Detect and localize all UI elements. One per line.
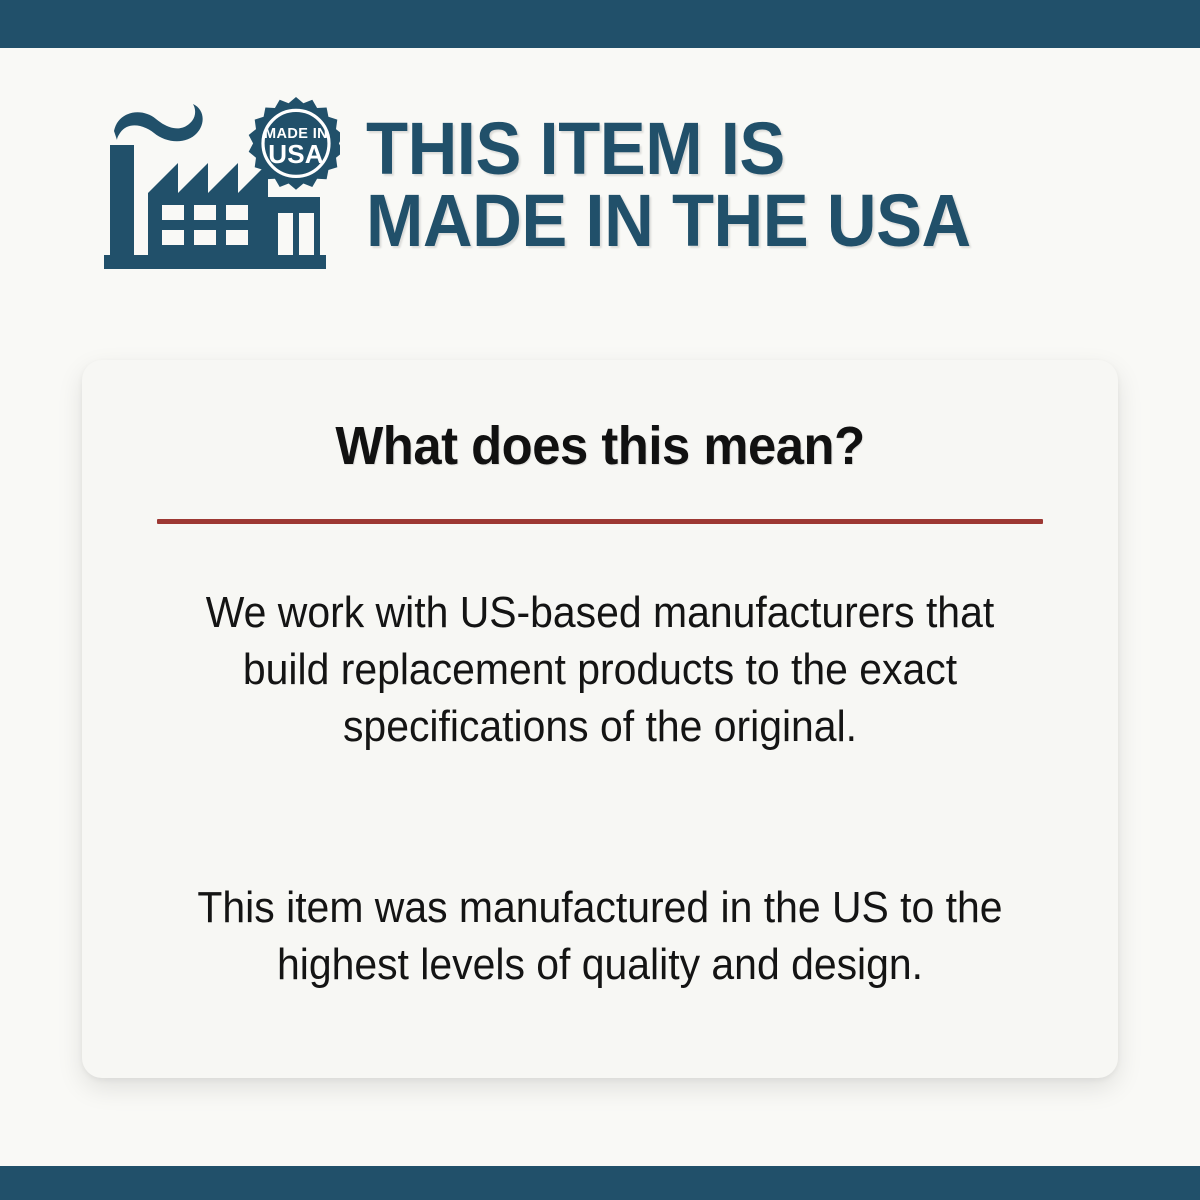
page-canvas: MADE IN USA THIS ITEM IS MADE IN THE USA…	[0, 48, 1200, 1166]
page-title-line-2: MADE IN THE USA	[366, 185, 1095, 257]
factory-base-shape	[104, 255, 326, 269]
chimney-shape	[110, 145, 134, 255]
card-paragraph-1: We work with US-based manufacturers that…	[174, 584, 1026, 756]
card-heading: What does this mean?	[169, 418, 1030, 475]
info-card: What does this mean? We work with US-bas…	[82, 360, 1118, 1078]
smoke-icon	[114, 104, 203, 141]
made-in-usa-factory-logo: MADE IN USA	[100, 93, 340, 278]
page-title: THIS ITEM IS MADE IN THE USA	[366, 113, 1095, 257]
page-title-line-1: THIS ITEM IS	[366, 113, 1095, 185]
card-paragraph-2: This item was manufactured in the US to …	[174, 879, 1026, 993]
top-accent-band	[0, 0, 1200, 48]
card-divider	[157, 519, 1043, 524]
bottom-accent-band	[0, 1166, 1200, 1200]
header: MADE IN USA THIS ITEM IS MADE IN THE USA	[100, 90, 1150, 280]
badge-usa-text: USA	[268, 139, 324, 169]
